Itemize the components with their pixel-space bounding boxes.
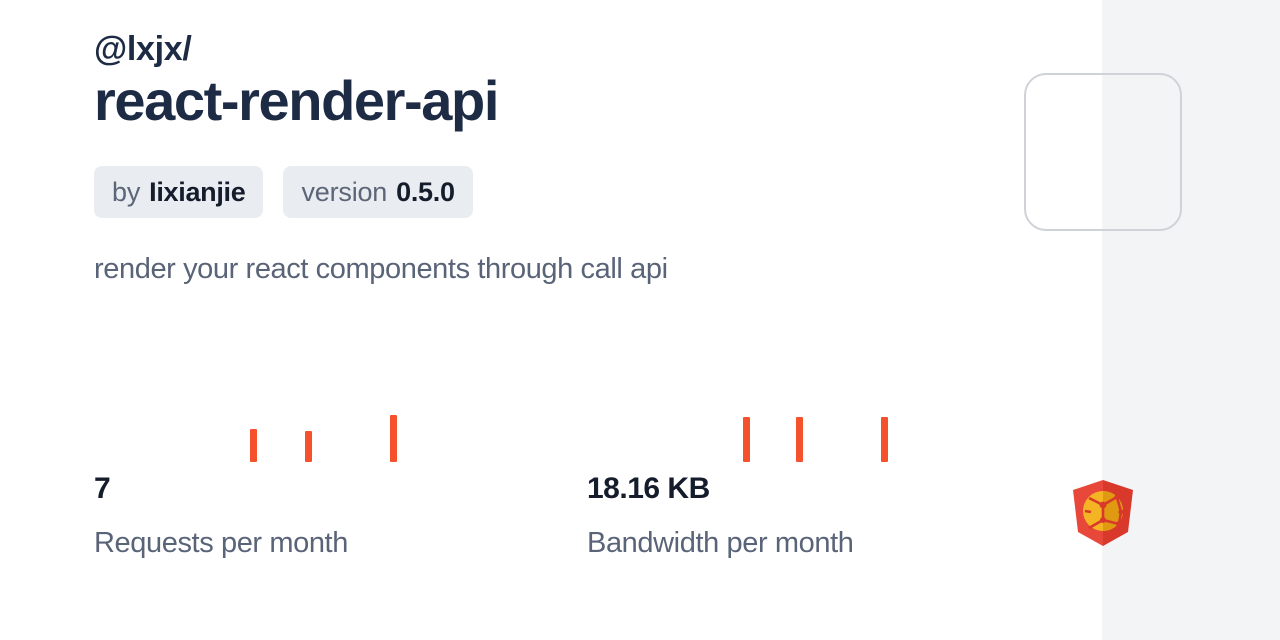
stat-bandwidth: 18.16 KB Bandwidth per month [587, 400, 1080, 558]
sparkline-bar [796, 417, 803, 462]
author-badge-key: by [112, 177, 140, 208]
author-badge-value: Iixianjie [149, 177, 245, 208]
version-badge-value: 0.5.0 [396, 177, 455, 208]
version-badge-key: version [301, 177, 387, 208]
sparkline-bar [390, 415, 397, 462]
requests-value: 7 [94, 474, 587, 504]
package-stats-card: @lxjx/ react-render-api by Iixianjie ver… [0, 0, 1280, 640]
package-description: render your react components through cal… [94, 251, 668, 289]
sparkline-bar [881, 417, 888, 462]
bandwidth-label: Bandwidth per month [587, 529, 1080, 558]
requests-label: Requests per month [94, 529, 587, 558]
package-scope: @lxjx/ [94, 30, 994, 68]
requests-sparkline [94, 400, 514, 462]
bandwidth-sparkline [587, 400, 1007, 462]
stats-row: 7 Requests per month 18.16 KB Bandwidth … [94, 400, 1080, 558]
sparkline-bar [305, 431, 312, 462]
package-header: @lxjx/ react-render-api [94, 30, 994, 132]
jsdelivr-logo [1069, 478, 1137, 548]
sparkline-bar [250, 429, 257, 462]
badge-row: by Iixianjie version 0.5.0 [94, 166, 473, 218]
sparkline-bar [743, 417, 750, 462]
stat-requests: 7 Requests per month [94, 400, 587, 558]
bandwidth-value: 18.16 KB [587, 474, 1080, 504]
avatar-placeholder [1024, 73, 1182, 231]
author-badge: by Iixianjie [94, 166, 263, 218]
package-title: react-render-api [94, 70, 994, 132]
version-badge: version 0.5.0 [283, 166, 472, 218]
